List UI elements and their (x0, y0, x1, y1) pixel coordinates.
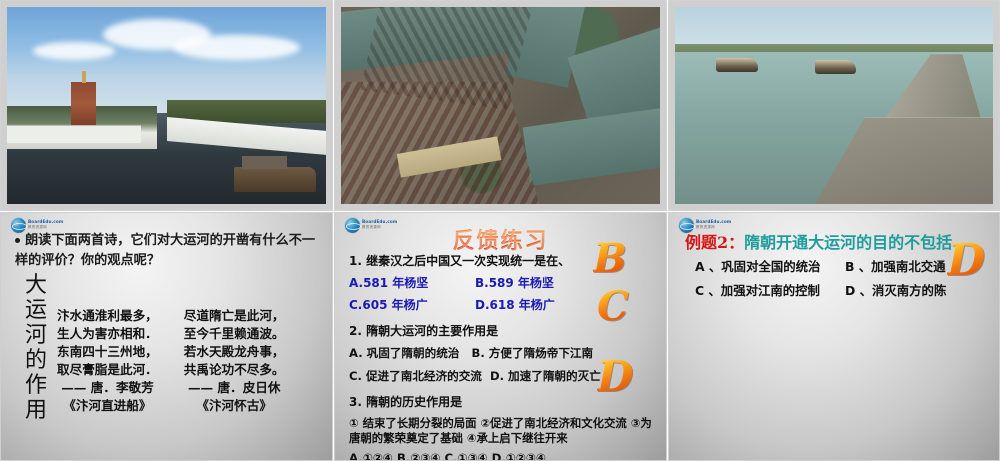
vertical-title-char: 用 (21, 398, 51, 423)
option-D[interactable]: D.618 年杨广 (475, 297, 555, 314)
vertical-title-char: 作 (21, 373, 51, 398)
cloud-shape (173, 35, 301, 61)
title-body: 隋朝开通大运河的目的不包括 (744, 233, 952, 252)
option-D[interactable]: D 、消灭南方的陈 (845, 279, 946, 303)
vertical-title-da-yun-he: 大运河的作用 (21, 273, 51, 423)
poem-line: 若水天殿龙舟事， (184, 343, 285, 361)
poem-line: 共禹论功不尽多。 (184, 361, 285, 379)
option-B[interactable]: B. 方便了隋炀帝下江南 (472, 346, 594, 360)
poem-pair: 汴水通淮利最多， 生人为害亦相和． 东南四十三州地， 取尽膏脂是此河． —— 唐… (57, 307, 327, 415)
poem-line: 尽道隋亡是此河， (184, 307, 285, 325)
question-3-statement-1: ① 结束了长期分裂的局面 ②促进了南北经济和文化交流 ③为 (349, 416, 655, 431)
poem-source: 《汴河直进船》 (57, 397, 158, 415)
answer-letter-D: D (597, 356, 633, 398)
poem-line: 生人为害亦相和． (57, 325, 158, 343)
option-B[interactable]: B 、加强南北交通 (845, 255, 946, 279)
poem-line: 至今千里赖通波。 (184, 325, 285, 343)
pagoda-icon (71, 82, 97, 125)
title-prefix: 例题2： (685, 233, 744, 252)
option-C[interactable]: C.605 年杨广 (349, 297, 475, 314)
photo-wide-canal-stone-dyke (675, 7, 993, 204)
slide-right-title: 例题2：隋朝开通大运河的目的不包括 (685, 229, 952, 253)
option-D[interactable]: D. 加速了隋朝的灭亡 (490, 369, 601, 383)
slide-feedback-exercise[interactable]: BoardEdu.com 教育资源网 反馈练习 1. 继秦汉之后中国又一次实现统… (334, 212, 667, 461)
photo-panel-canal-with-pagoda[interactable] (0, 0, 333, 211)
option-B[interactable]: B.589 年杨坚 (475, 275, 554, 292)
sky-region (675, 7, 993, 48)
cargo-boat (815, 60, 856, 74)
logo-subtext: 教育资源网 (28, 225, 47, 229)
option-A[interactable]: A 、巩固对全国的统治 (695, 255, 845, 279)
slide-poem-comparison[interactable]: BoardEdu.com 教育资源网 朗读下面两首诗，它们对大运河的开凿有什么不… (0, 212, 333, 461)
photo-canal-with-pagoda (7, 7, 326, 204)
vertical-title-char: 大 (21, 273, 51, 298)
slide-left-bullet-text: 朗读下面两首诗，它们对大运河的开凿有什么不一样的评价？你的观点呢？ (15, 233, 315, 268)
photo-panel-aerial-canal-town[interactable] (334, 0, 667, 211)
photo-panel-wide-canal-stone-dyke[interactable] (668, 0, 1000, 211)
poem-line: 取尽膏脂是此河． (57, 361, 158, 379)
logo-wordmark: BoardEdu.com (28, 219, 63, 224)
left-white-wall (7, 125, 141, 143)
option-A[interactable]: A.581 年杨坚 (349, 275, 475, 292)
question-3-statement-2: 唐朝的繁荣奠定了基础 ④承上启下继往开来 (349, 431, 655, 446)
logo-wordmark: BoardEdu.com (696, 219, 731, 224)
answer-letter-B: B (593, 239, 627, 279)
answer-letter-D: D (947, 239, 985, 283)
bullet-dot-icon (15, 238, 20, 243)
option-C[interactable]: C. 促进了南北经济的交流 (349, 369, 482, 383)
option-A[interactable]: A. 巩固了隋朝的统治 (349, 346, 459, 360)
moored-boat (234, 167, 317, 193)
cargo-boat (716, 58, 757, 72)
option-C[interactable]: C 、加强对江南的控制 (695, 279, 845, 303)
vertical-title-char: 河 (21, 323, 51, 348)
slide-contact-sheet: BoardEdu.com 教育资源网 朗读下面两首诗，它们对大运河的开凿有什么不… (0, 0, 1000, 461)
poem-line: 东南四十三州地， (57, 343, 158, 361)
poem-attribution: —— 唐．皮日休 (184, 379, 285, 397)
answer-letter-C: C (597, 287, 629, 327)
photo-aerial-canal-town (341, 7, 660, 204)
poem-line: 汴水通淮利最多， (57, 307, 158, 325)
slide-example-question-2[interactable]: BoardEdu.com 教育资源网 例题2：隋朝开通大运河的目的不包括 A 、… (668, 212, 1000, 461)
vertical-title-char: 运 (21, 298, 51, 323)
slide-left-bullet: 朗读下面两首诗，它们对大运河的开凿有什么不一样的评价？你的观点呢？ (15, 231, 325, 271)
vertical-title-char: 的 (21, 348, 51, 373)
poem-source: 《汴河怀古》 (184, 397, 285, 415)
question-3-answer-options[interactable]: A.①②④ B.②③④ C.①③④ D.①②③④ (349, 451, 655, 461)
poem-attribution: —— 唐．李敬芳 (57, 379, 158, 397)
poem-bianhe-huaigu: 尽道隋亡是此河， 至今千里赖通波。 若水天殿龙舟事， 共禹论功不尽多。 —— 唐… (184, 307, 285, 415)
poem-bianhe-zhijinchuan: 汴水通淮利最多， 生人为害亦相和． 东南四十三州地， 取尽膏脂是此河． —— 唐… (57, 307, 158, 415)
